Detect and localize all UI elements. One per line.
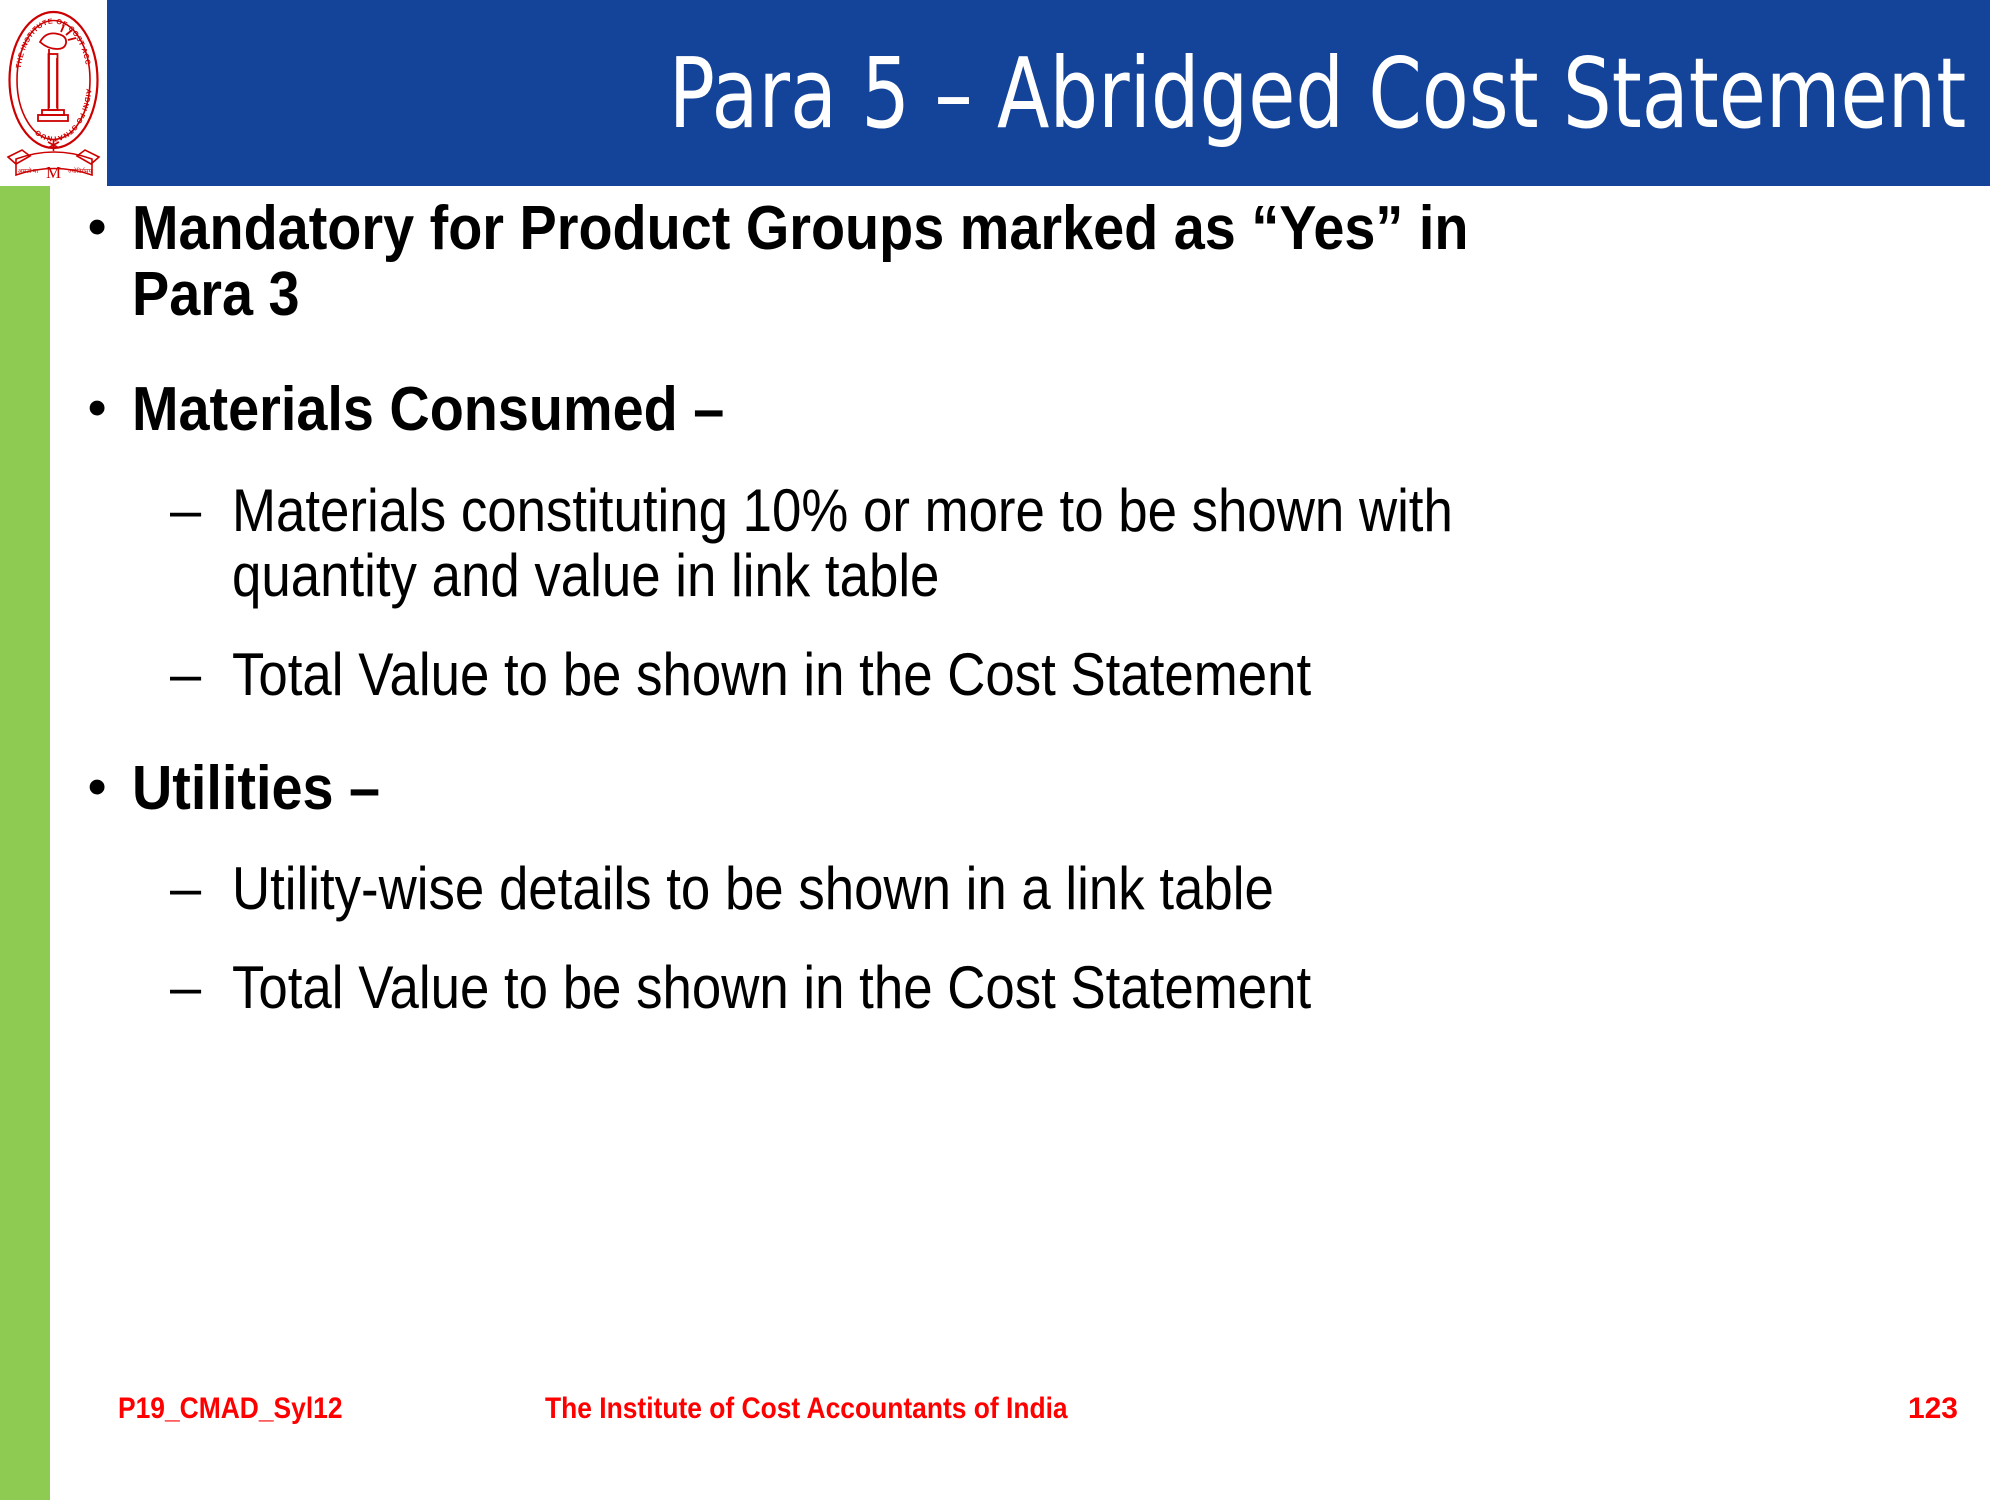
bullet-item: • Materials Consumed –	[60, 377, 1920, 443]
spacer	[60, 453, 1920, 479]
sub-bullet-text: Total Value to be shown in the Cost Stat…	[232, 956, 1508, 1021]
spacer	[60, 831, 1920, 857]
bullet-text: Mandatory for Product Groups marked as “…	[132, 196, 1482, 327]
slide-page-number: 123	[1908, 1392, 1958, 1426]
sub-bullet-item: – Utility-wise details to be shown in a …	[170, 857, 1920, 922]
slide-body: • Mandatory for Product Groups marked as…	[60, 196, 1920, 1346]
sub-bullet-item: – Total Value to be shown in the Cost St…	[170, 956, 1920, 1021]
spacer	[60, 716, 1920, 756]
footer-institute-name: The Institute of Cost Accountants of Ind…	[545, 1392, 1068, 1426]
sub-bullet-marker: –	[170, 479, 232, 542]
svg-text:THE INSTITUTE OF COST ACC: THE INSTITUTE OF COST ACC	[14, 16, 93, 68]
sub-bullet-text: Utility-wise details to be shown in a li…	[232, 857, 1508, 922]
sub-bullet-item: – Total Value to be shown in the Cost St…	[170, 643, 1920, 708]
bullet-marker: •	[60, 756, 132, 819]
left-accent-bar	[0, 186, 50, 1500]
bullet-item: • Utilities –	[60, 756, 1920, 822]
slide-title-bar: Para 5 – Abridged Cost Statement	[107, 0, 1990, 186]
page-title: Para 5 – Abridged Cost Statement	[502, 0, 1990, 186]
svg-text:AIDNI FO STNATNUO: AIDNI FO STNATNUO	[33, 88, 94, 143]
bullet-text: Utilities –	[132, 756, 1482, 822]
bullet-item: • Mandatory for Product Groups marked as…	[60, 196, 1920, 327]
spacer	[60, 337, 1920, 377]
spacer	[60, 617, 1920, 643]
sub-bullet-marker: –	[170, 643, 232, 706]
institute-logo: THE INSTITUTE OF COST ACC AIDNI FO STNAT…	[2, 2, 105, 184]
slide-footer: P19_CMAD_Syl12 The Institute of Cost Acc…	[0, 1392, 1990, 1452]
sub-bullet-marker: –	[170, 857, 232, 920]
footer-course-code: P19_CMAD_Syl12	[118, 1392, 343, 1426]
sub-bullet-text: Materials constituting 10% or more to be…	[232, 479, 1508, 609]
bullet-marker: •	[60, 196, 132, 259]
bullet-text: Materials Consumed –	[132, 377, 1482, 443]
spacer	[60, 930, 1920, 956]
svg-text:M: M	[46, 163, 61, 182]
sub-bullet-text: Total Value to be shown in the Cost Stat…	[232, 643, 1508, 708]
sub-bullet-marker: –	[170, 956, 232, 1019]
svg-text:असतो मा: असतो मा	[18, 167, 39, 175]
bullet-marker: •	[60, 377, 132, 440]
sub-bullet-item: – Materials constituting 10% or more to …	[170, 479, 1920, 609]
svg-text:ज्योतिर्गमय: ज्योतिर्गमय	[68, 167, 92, 175]
